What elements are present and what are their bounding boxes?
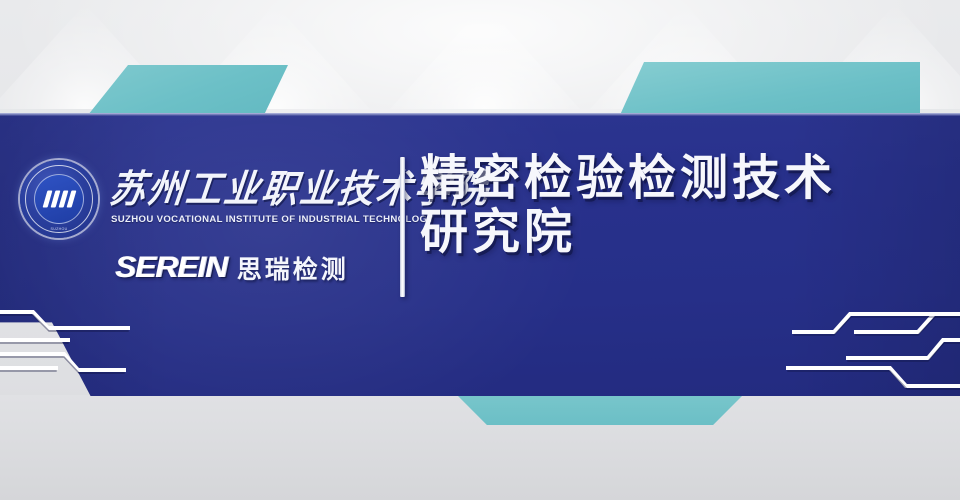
vertical-divider	[400, 157, 405, 297]
partner-logo-row: SEREIN 思瑞检测	[118, 250, 349, 286]
partner-name-cn: 思瑞检测	[237, 250, 349, 286]
institution-logo-block: SUZHOU 苏州工业职业技术学院 SUZHOU VOCATIONAL INST…	[18, 158, 390, 290]
spotlight-3	[390, 4, 580, 109]
panel-top-edge	[0, 113, 960, 116]
title-line-1: 精密检验检测技术	[420, 150, 836, 206]
serein-wordmark: SEREIN	[115, 251, 227, 285]
teal-trapezoid-top-right	[620, 62, 920, 115]
teal-trapezoid-top-left	[88, 65, 288, 115]
page-title: 精密检验检测技术 研究院	[420, 152, 940, 260]
title-line-2: 研究院	[420, 206, 940, 260]
crest-monogram-icon	[40, 191, 79, 208]
crest-bottom-text: SUZHOU	[20, 227, 98, 231]
teal-trapezoid-bottom	[455, 393, 745, 425]
university-crest-icon: SUZHOU	[20, 160, 98, 238]
signage-scene: SUZHOU 苏州工业职业技术学院 SUZHOU VOCATIONAL INST…	[0, 0, 960, 500]
university-name-en: SUZHOU VOCATIONAL INSTITUTE OF INDUSTRIA…	[111, 214, 434, 225]
